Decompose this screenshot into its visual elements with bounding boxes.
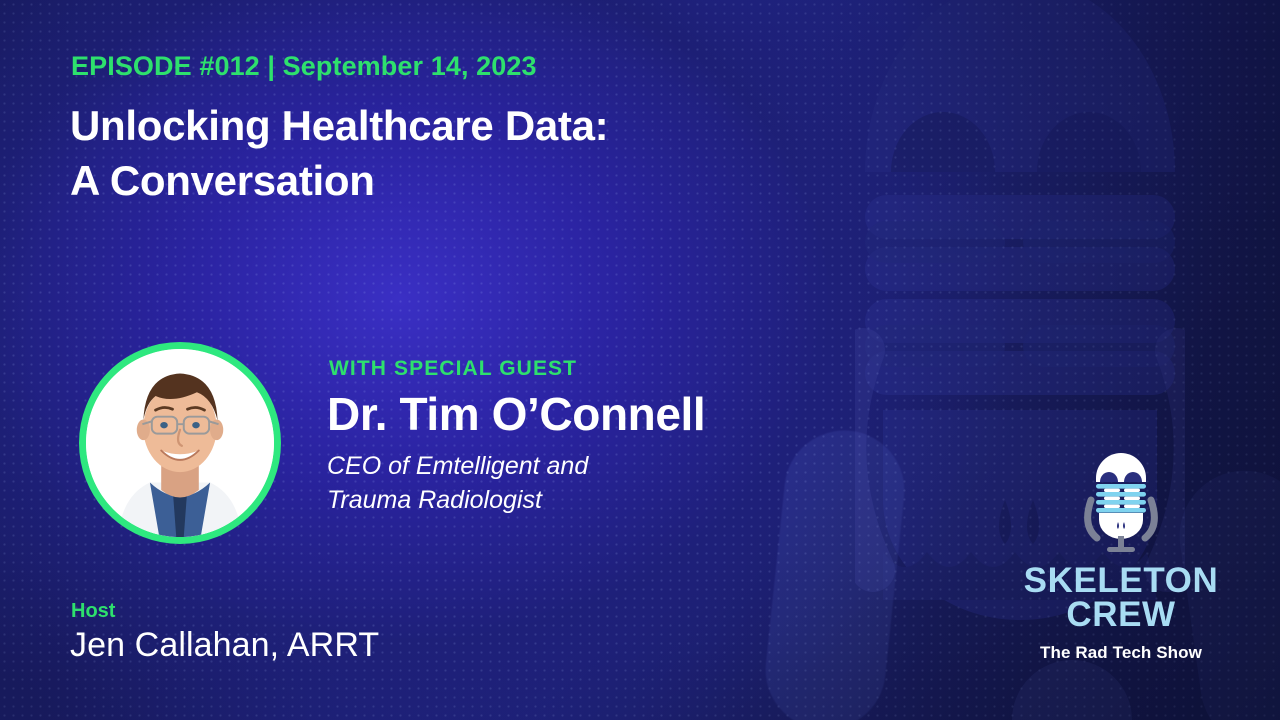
avatar: [79, 342, 281, 544]
host-name: Jen Callahan, ARRT: [70, 626, 379, 665]
brand-word-line-1: SKELETON: [1024, 561, 1219, 600]
guest-kicker: WITH SPECIAL GUEST: [329, 357, 577, 381]
host-kicker: Host: [71, 600, 115, 623]
title-line-1: Unlocking Healthcare Data:: [70, 102, 608, 149]
title-line-2: A Conversation: [70, 154, 770, 209]
guest-name: Dr. Tim O’Connell: [327, 387, 705, 441]
guest-role-line-2: Trauma Radiologist: [327, 484, 747, 518]
brand-wordmark: SKELETON CREW: [996, 564, 1246, 633]
guest-headshot-illustration: [86, 349, 274, 537]
episode-meta-line: EPISODE #012 | September 14, 2023: [71, 51, 537, 82]
brand-word-line-2: CREW: [996, 598, 1246, 632]
brand-logo: SKELETON CREW The Rad Tech Show: [996, 452, 1246, 663]
skull-microphone-icon: [1078, 452, 1164, 556]
episode-card: EPISODE #012 | September 14, 2023 Unlock…: [0, 0, 1280, 720]
page-title: Unlocking Healthcare Data: A Conversatio…: [70, 99, 770, 208]
guest-role-line-1: CEO of Emtelligent and: [327, 452, 588, 480]
brand-tagline: The Rad Tech Show: [996, 643, 1246, 663]
guest-role: CEO of Emtelligent and Trauma Radiologis…: [327, 450, 747, 517]
